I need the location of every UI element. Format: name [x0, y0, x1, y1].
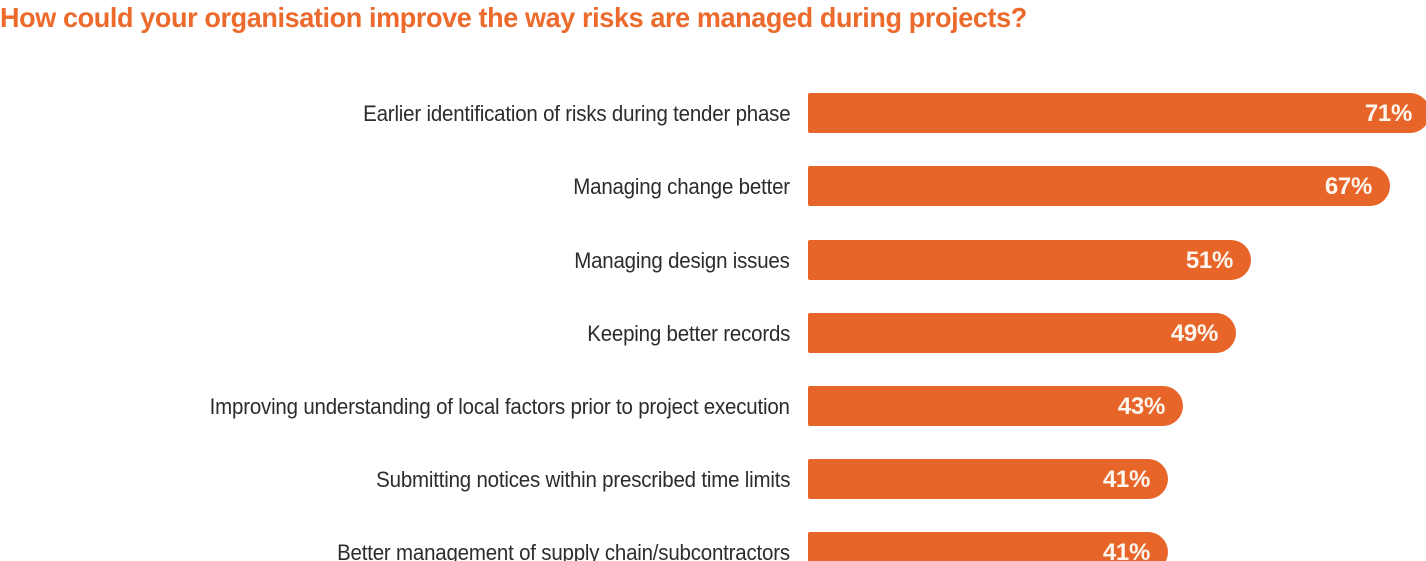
- bar-value-label: 67%: [1325, 166, 1372, 206]
- bar: 41%: [808, 459, 1168, 499]
- bar-row: Earlier identification of risks during t…: [0, 93, 1426, 133]
- bar-category-label: Managing design issues: [575, 240, 790, 280]
- bar-row: Submitting notices within prescribed tim…: [0, 459, 1426, 499]
- bar-value-label: 51%: [1186, 240, 1233, 280]
- bar: 49%: [808, 313, 1236, 353]
- bar-row: Better management of supply chain/subcon…: [0, 532, 1426, 561]
- bar: 41%: [808, 532, 1168, 561]
- bar: 67%: [808, 166, 1390, 206]
- bar-category-label: Managing change better: [573, 166, 790, 206]
- bar: 71%: [808, 93, 1426, 133]
- bar-category-label: Earlier identification of risks during t…: [363, 93, 790, 133]
- bar-value-label: 41%: [1103, 459, 1150, 499]
- bar-value-label: 43%: [1118, 386, 1165, 426]
- bar-value-label: 41%: [1103, 532, 1150, 561]
- bar-category-label: Improving understanding of local factors…: [210, 386, 790, 426]
- bar-value-label: 71%: [1365, 93, 1412, 133]
- bar-category-label: Keeping better records: [587, 313, 790, 353]
- bar-category-label: Submitting notices within prescribed tim…: [376, 459, 790, 499]
- bar: 51%: [808, 240, 1251, 280]
- bar-row: Managing change better67%: [0, 166, 1426, 206]
- bar-row: Improving understanding of local factors…: [0, 386, 1426, 426]
- bar-chart-plot-area: Earlier identification of risks during t…: [0, 0, 1426, 561]
- chart-canvas: How could your organisation improve the …: [0, 0, 1426, 561]
- bar-category-label: Better management of supply chain/subcon…: [337, 532, 790, 561]
- bar: 43%: [808, 386, 1183, 426]
- bar-row: Keeping better records49%: [0, 313, 1426, 353]
- bar-row: Managing design issues51%: [0, 240, 1426, 280]
- bar-value-label: 49%: [1171, 313, 1218, 353]
